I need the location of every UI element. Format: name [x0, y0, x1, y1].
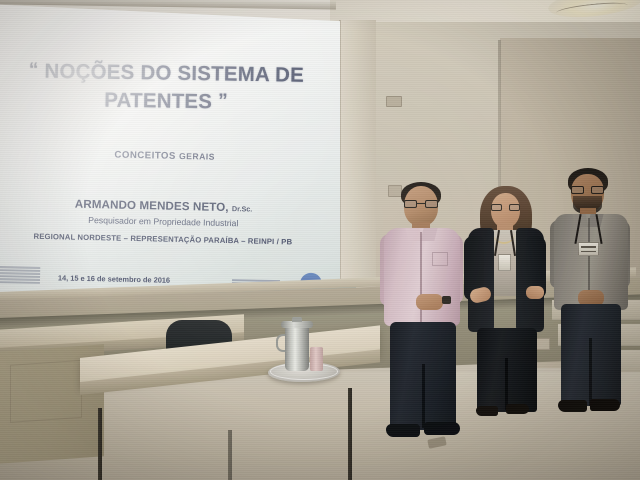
presentation-slide: “ NOÇÕES DO SISTEMA DE PATENTES ” CONCEI…: [0, 4, 336, 307]
photo-scene: “ NOÇÕES DO SISTEMA DE PATENTES ” CONCEI…: [0, 0, 640, 480]
slide-subtitle-small: GERAIS: [179, 151, 215, 162]
shirt-placket: [420, 232, 422, 324]
shoe: [386, 424, 420, 437]
table-leg: [98, 408, 102, 480]
quote-close-mark: ”: [218, 91, 228, 112]
slide-title: “ NOÇÕES DO SISTEMA DE PATENTES ”: [0, 57, 335, 119]
thermos-knob: [292, 317, 302, 322]
table-leg: [228, 430, 232, 480]
slide-author-degree: Dr.Sc.: [232, 204, 253, 213]
wristwatch: [442, 296, 451, 304]
shoe: [476, 406, 498, 416]
conference-badge: [498, 254, 511, 271]
pink-cup: [310, 347, 323, 371]
shoe: [506, 404, 529, 414]
quote-open-mark: “: [29, 59, 39, 80]
slide-author-role: Pesquisador em Propriedade Industrial: [0, 213, 331, 230]
slide-title-line-2: PATENTES: [104, 89, 212, 114]
table-leg: [348, 388, 352, 480]
eyeglasses-icon: [491, 204, 520, 211]
slide-author-name: ARMANDO MENDES NETO,: [75, 198, 229, 214]
slide-title-line-1: NOÇÕES DO SISTEMA DE: [44, 60, 304, 87]
shirt-pocket: [432, 252, 448, 266]
thermos-lid: [281, 321, 313, 328]
eyeglasses-icon: [571, 186, 604, 194]
trouser-seam: [422, 364, 425, 428]
slide-subtitle: CONCEITOS GERAIS: [0, 147, 333, 165]
shoe: [424, 422, 460, 435]
presenter-left: [376, 186, 468, 446]
presenter-center: [464, 188, 550, 420]
slide-subtitle-main: CONCEITOS: [114, 150, 176, 162]
conference-badge: [578, 242, 599, 256]
presenter-right: [548, 170, 634, 418]
trouser-seam: [505, 358, 508, 410]
shoe: [590, 399, 620, 411]
shoe: [558, 400, 587, 412]
jeans-seam: [589, 338, 592, 406]
right-hand: [526, 286, 544, 299]
clasped-hands: [416, 294, 443, 310]
slide-organization: REGIONAL NORDESTE – REPRESENTAÇÃO PARAÍB…: [0, 231, 331, 247]
wall-outlet: [386, 96, 402, 107]
coffee-thermos: [285, 325, 309, 371]
pink-dress-shirt: [384, 228, 460, 326]
eyeglasses-icon: [404, 200, 438, 208]
